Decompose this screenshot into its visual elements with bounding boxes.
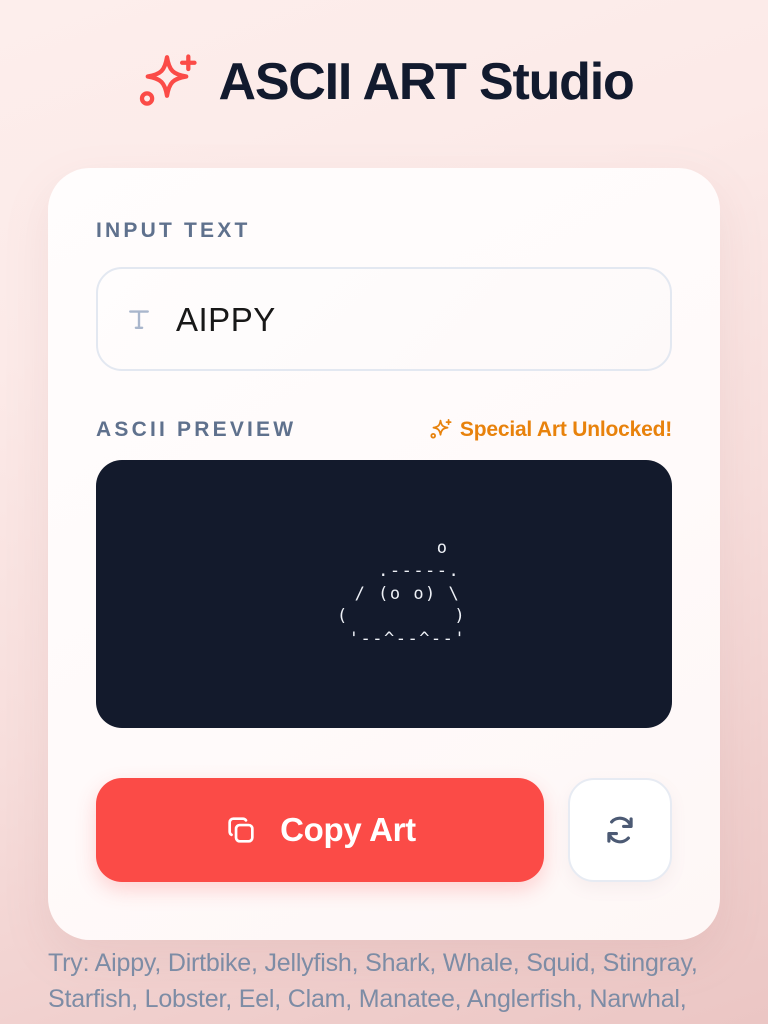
title-text: ASCII ART Studio xyxy=(218,53,633,111)
text-type-icon xyxy=(124,304,154,334)
sparkle-icon xyxy=(428,417,453,442)
text-input-field[interactable]: AIPPY xyxy=(96,267,672,371)
refresh-button[interactable] xyxy=(568,778,672,882)
preview-section-label: ASCII PREVIEW xyxy=(96,419,296,440)
input-section-label: INPUT TEXT xyxy=(96,220,672,241)
status-badge-label: Special Art Unlocked! xyxy=(460,418,672,442)
status-badge: Special Art Unlocked! xyxy=(428,417,672,442)
page-title: ASCII ART Studio xyxy=(218,56,633,108)
ascii-preview-panel: o .-----. / (o o) \ ( ) '--^--^--' xyxy=(96,460,672,728)
app-header: ASCII ART Studio xyxy=(0,0,768,120)
text-input-value: AIPPY xyxy=(176,303,276,336)
copy-art-button-label: Copy Art xyxy=(280,811,416,849)
copy-icon xyxy=(224,813,258,847)
suggestions-hint: Try: Aippy, Dirtbike, Jellyfish, Shark, … xyxy=(48,946,720,1024)
main-card: INPUT TEXT AIPPY ASCII PREVIEW Special A… xyxy=(48,168,720,940)
copy-art-button[interactable]: Copy Art xyxy=(96,778,544,882)
sparkle-icon xyxy=(134,49,200,115)
refresh-icon xyxy=(602,812,638,848)
action-bar: Copy Art xyxy=(96,778,672,882)
preview-header-row: ASCII PREVIEW Special Art Unlocked! xyxy=(96,417,672,442)
ascii-art-content: o .-----. / (o o) \ ( ) '--^--^--' xyxy=(302,537,466,650)
